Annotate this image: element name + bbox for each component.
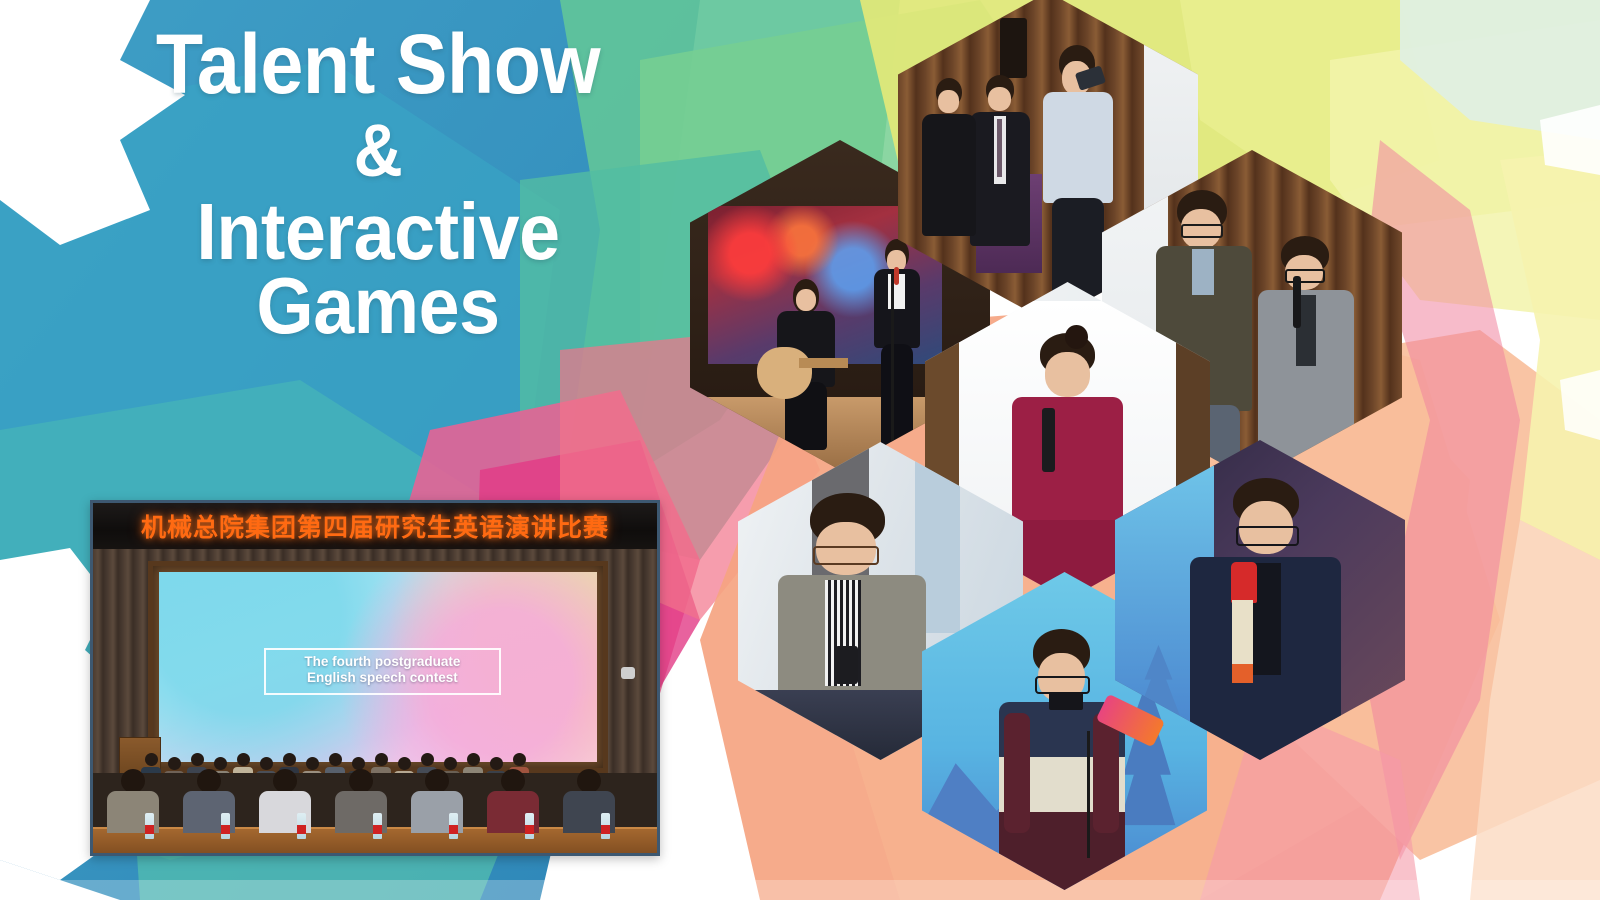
hexagon-photo-collage <box>660 0 1600 900</box>
woman-maroon-figure <box>1005 333 1130 600</box>
camera-icon <box>621 667 635 679</box>
harmonica-player-figure <box>996 629 1127 890</box>
contestant-head <box>375 753 388 766</box>
guitarist-figure <box>768 279 846 451</box>
judge-head <box>349 769 373 793</box>
water-bottle <box>145 813 154 839</box>
contestant-head <box>168 757 181 770</box>
contestant-head <box>145 753 158 766</box>
screen-caption-line-1: The fourth postgraduate <box>269 654 496 670</box>
contestant-head <box>237 753 250 766</box>
judge-head <box>273 769 297 793</box>
contestant-head <box>467 753 480 766</box>
screen-caption: The fourth postgraduate English speech c… <box>264 648 501 695</box>
microphone-icon <box>1293 276 1302 328</box>
water-bottle <box>373 813 382 839</box>
judges-area <box>93 773 657 856</box>
man-red-mic-figure <box>1190 478 1341 760</box>
microphone-icon <box>1231 562 1257 604</box>
english-speech-contest-photo: 机械总院集团第四届研究生英语演讲比赛 The fourth postgradua… <box>90 500 660 856</box>
contestant-head <box>283 753 296 766</box>
poster-canvas: Talent Show & Interactive Games 机械总院集团第四… <box>0 0 1600 900</box>
led-banner: 机械总院集团第四届研究生英语演讲比赛 <box>93 503 657 551</box>
screen-caption-line-2: English speech contest <box>269 670 496 686</box>
female-singer-figure <box>870 239 924 457</box>
contestant-head <box>329 753 342 766</box>
man-right-figure <box>1258 236 1354 474</box>
water-bottle <box>601 813 610 839</box>
judge-head <box>121 769 145 793</box>
auditorium-scene: The fourth postgraduate English speech c… <box>93 549 657 856</box>
water-bottle <box>297 813 306 839</box>
attendee-figure <box>922 78 976 236</box>
mic-stand <box>1087 731 1090 858</box>
led-banner-text: 机械总院集团第四届研究生英语演讲比赛 <box>141 508 609 544</box>
contestant-head <box>398 757 411 770</box>
judge-head <box>501 769 525 793</box>
judge-suit-figure <box>970 75 1030 247</box>
judge-head <box>197 769 221 793</box>
contestant-head <box>421 753 434 766</box>
water-bottle <box>525 813 534 839</box>
lectern-microphone-icon <box>835 646 858 684</box>
judge-head <box>425 769 449 793</box>
microphone-icon <box>894 267 899 284</box>
water-bottle <box>221 813 230 839</box>
contestant-head <box>191 753 204 766</box>
microphone-icon <box>1042 408 1055 472</box>
water-bottle <box>449 813 458 839</box>
judge-head <box>577 769 601 793</box>
contestant-head <box>513 753 526 766</box>
mic-stand <box>891 272 894 444</box>
